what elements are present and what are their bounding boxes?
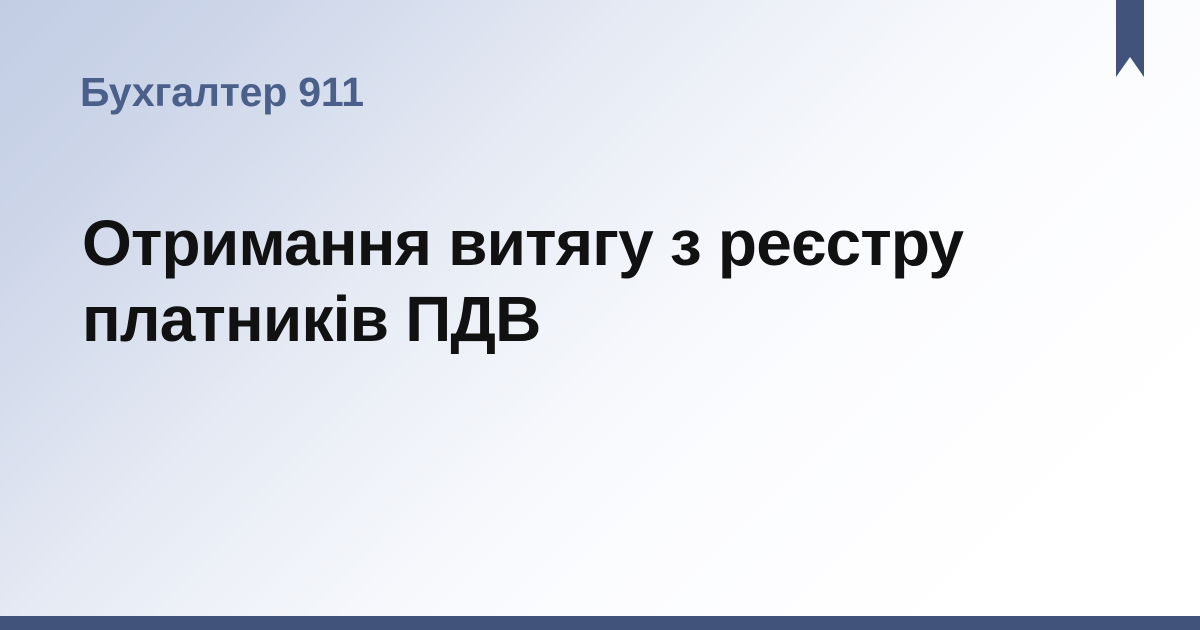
bottom-accent-bar [0,616,1200,630]
page-title: Отримання витягу з реєстру платників ПДВ [82,205,1042,357]
site-logo[interactable]: Бухгалтер 911 [80,68,364,116]
social-preview-card: Бухгалтер 911 Отримання витягу з реєстру… [0,0,1200,630]
bookmark-icon [1116,0,1144,77]
